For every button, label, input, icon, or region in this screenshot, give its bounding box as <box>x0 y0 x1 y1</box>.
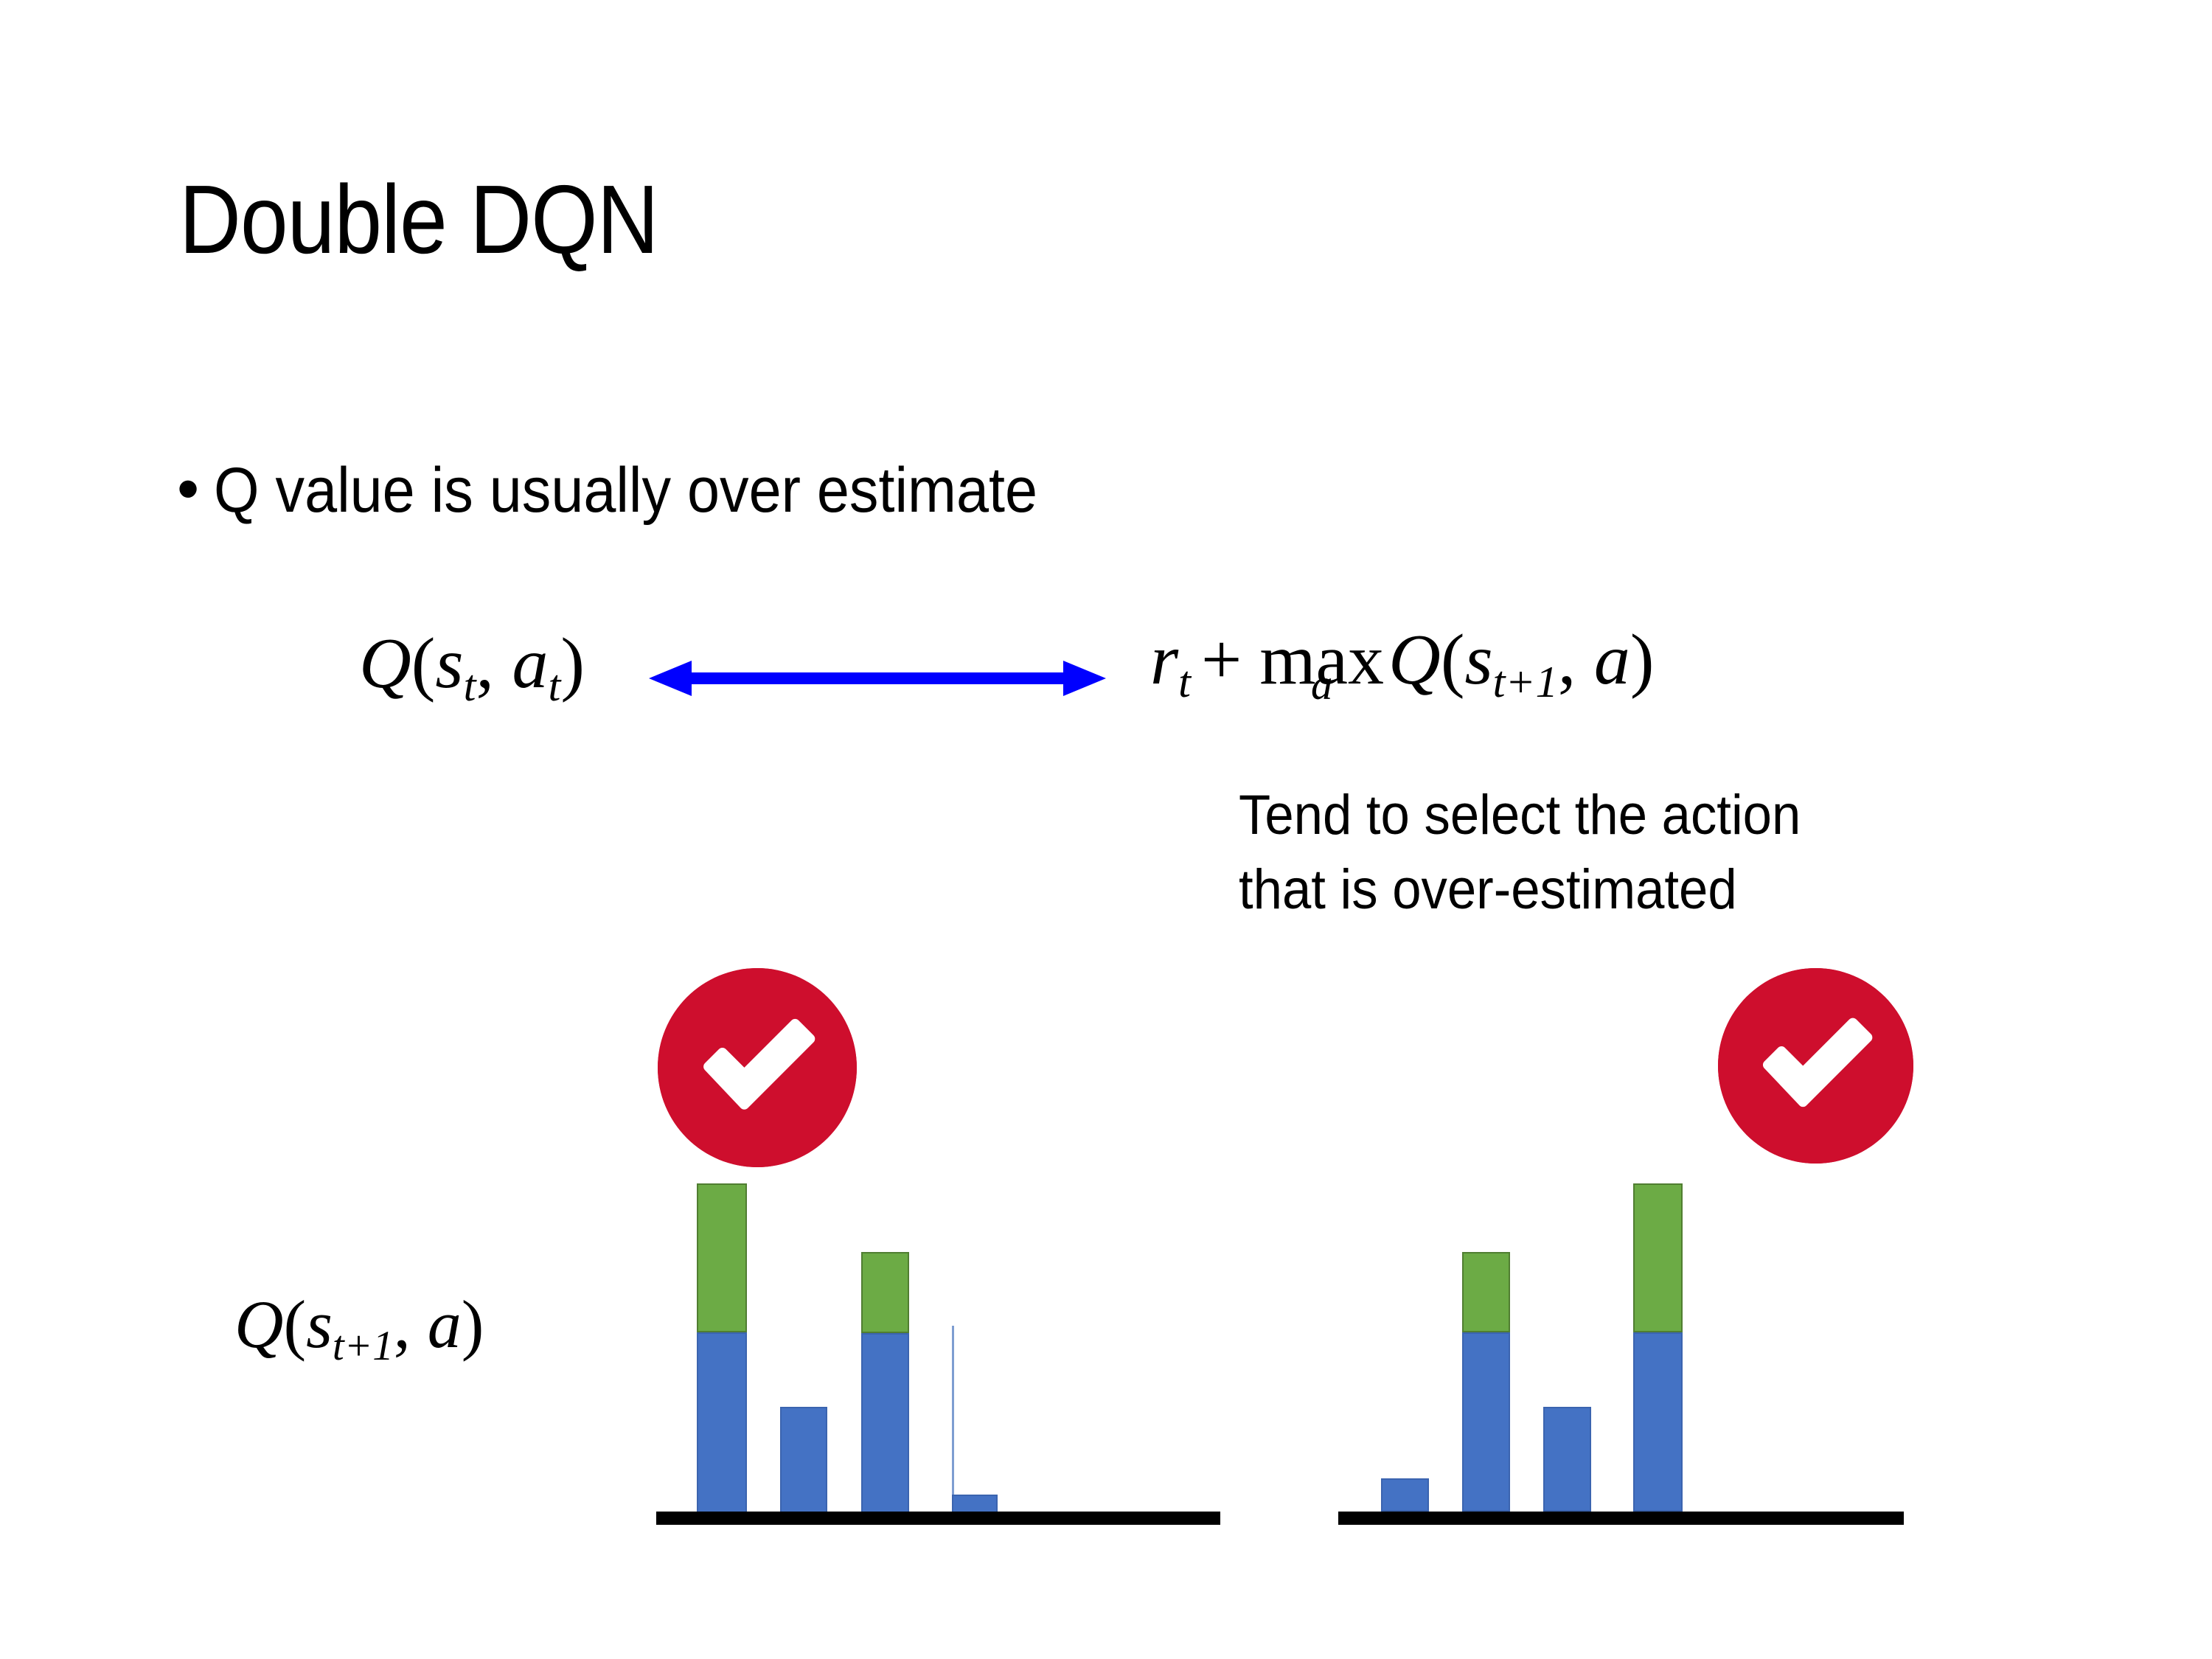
eq-left-comma: , <box>476 624 512 703</box>
equation-right: rt+maxaQ(st+1, a) <box>1150 624 1655 706</box>
eq-left-a: a <box>512 624 548 703</box>
chart-right-bar-4-blue-segment <box>1633 1332 1683 1512</box>
check-circle-icon <box>658 968 857 1167</box>
chart-axis-label: Q(st+1, a) <box>234 1290 484 1367</box>
page-title: Double DQN <box>179 171 658 268</box>
chart-right-baseline <box>1338 1512 1904 1525</box>
eq-right-max-operator: maxa <box>1259 624 1384 696</box>
chart-left-bar-3-blue-segment <box>861 1333 909 1513</box>
bullet-marker-icon: • <box>177 457 199 521</box>
chart-left-bar-4-blue-segment <box>952 1495 998 1513</box>
chart-left-baseline <box>656 1512 1220 1525</box>
chart-left-bar-2-blue-segment <box>780 1407 827 1513</box>
eq-left-open-paren: ( <box>411 624 436 703</box>
eq-right-s: s <box>1464 620 1492 700</box>
axis-label-a: a <box>428 1287 462 1362</box>
axis-label-s-subscript: t+1 <box>333 1323 394 1369</box>
eq-right-q: Q <box>1388 620 1441 700</box>
eq-right-a: a <box>1594 620 1630 700</box>
bullet-text: Q value is usually over estimate <box>214 457 1037 524</box>
eq-right-comma: , <box>1558 620 1594 700</box>
slide-canvas: Double DQN • Q value is usually over est… <box>0 0 2212 1659</box>
axis-label-q: Q <box>234 1287 283 1362</box>
eq-right-max-subscript: a <box>1259 664 1384 707</box>
chart-left-q-distribution <box>649 959 1239 1541</box>
chart-right-bar-2-blue-segment <box>1462 1332 1510 1512</box>
annotation-text: Tend to select the action that is over-e… <box>1239 778 1801 927</box>
eq-right-r: r <box>1150 620 1178 700</box>
eq-left-s-subscript: t <box>464 661 476 711</box>
annotation-line-1: Tend to select the action <box>1239 778 1801 852</box>
eq-right-plus: + <box>1201 620 1242 700</box>
chart-right-bar-4-green-segment <box>1633 1183 1683 1332</box>
chart-left-bar-1-green-segment <box>697 1183 747 1332</box>
bullet-item: • Q value is usually over estimate <box>177 457 1109 524</box>
chart-right-bar-1-blue-segment <box>1381 1478 1429 1512</box>
chart-right-bar-2-green-segment <box>1462 1252 1510 1332</box>
annotation-line-2: that is over-estimated <box>1239 852 1801 927</box>
axis-label-comma: , <box>394 1287 428 1362</box>
chart-left-bar-1-blue-segment <box>697 1332 747 1513</box>
eq-left-close-paren: ) <box>560 624 585 703</box>
axis-label-open-paren: ( <box>283 1287 306 1362</box>
check-circle-icon <box>1718 968 1913 1164</box>
eq-left-q: Q <box>359 624 411 703</box>
double-headed-arrow-icon <box>649 661 1106 696</box>
chart-left-guide-line <box>952 1326 954 1513</box>
eq-left-s: s <box>435 624 463 703</box>
eq-left-a-subscript: t <box>548 661 560 711</box>
equation-left: Q(st, at) <box>359 627 585 709</box>
chart-right-bar-3-blue-segment <box>1543 1407 1591 1512</box>
eq-right-s-subscript: t+1 <box>1493 658 1558 707</box>
chart-left-bar-3-green-segment <box>861 1252 909 1333</box>
eq-right-open-paren: ( <box>1441 620 1465 700</box>
eq-right-close-paren: ) <box>1630 620 1655 700</box>
axis-label-s: s <box>306 1287 333 1362</box>
eq-right-r-subscript: t <box>1178 658 1191 707</box>
axis-label-close-paren: ) <box>462 1287 484 1362</box>
chart-right-q-distribution <box>1338 959 1928 1541</box>
